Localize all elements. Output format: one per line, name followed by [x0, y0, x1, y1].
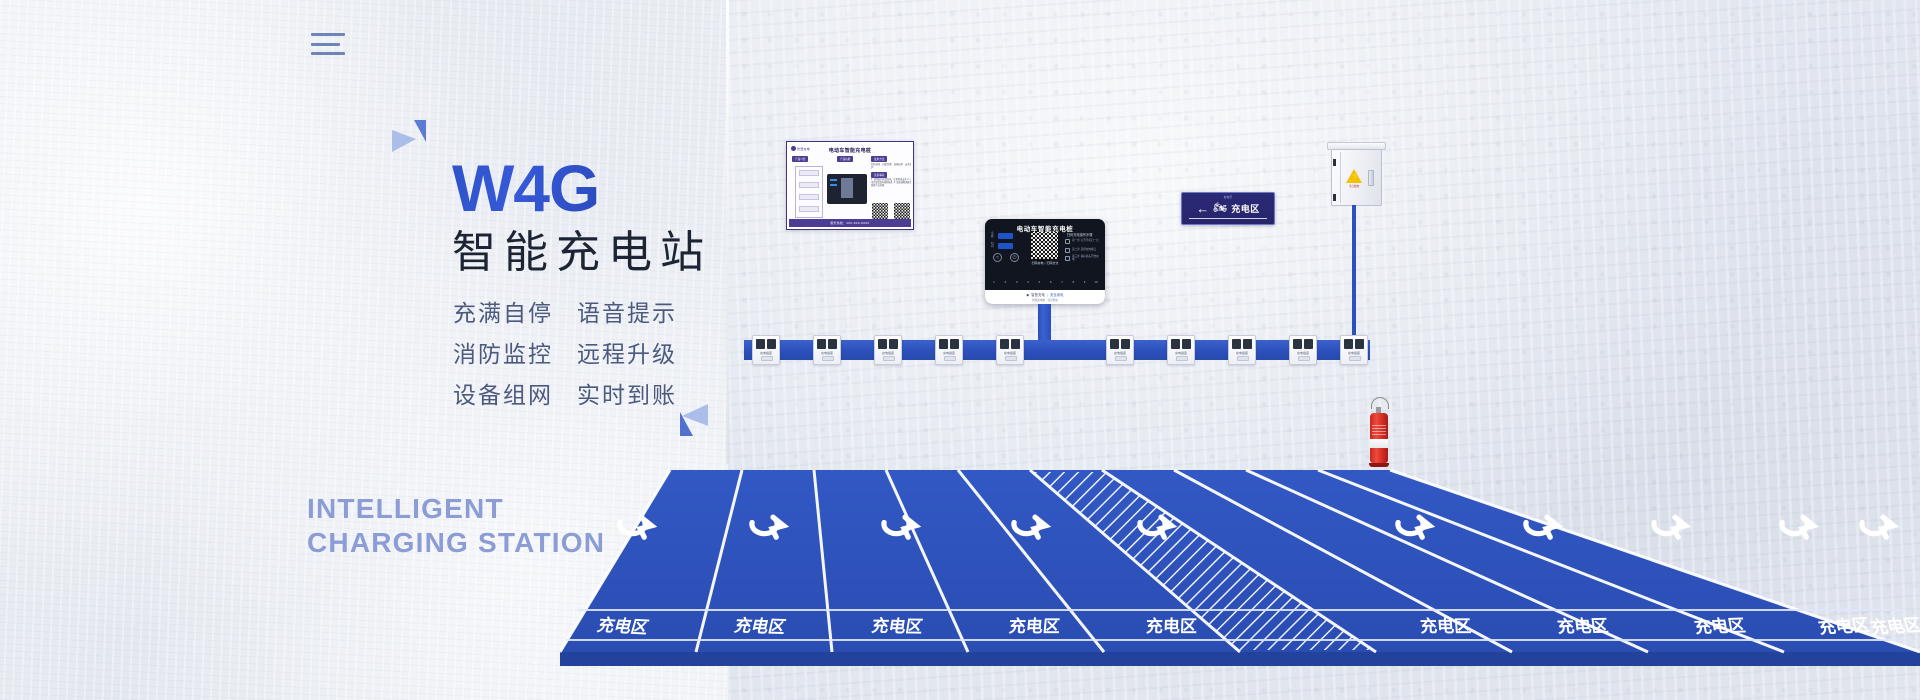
wall-socket[interactable]: 充电插座	[874, 335, 902, 365]
step-text: 第二步 选择充电端口	[1072, 249, 1096, 252]
wall-socket[interactable]: 充电插座	[935, 335, 963, 365]
page-title: W4G	[452, 155, 599, 221]
pile-steps-list: 第一步 打开手机扫一扫 第二步 选择充电端口 第三步 插好插头开始充电	[1065, 239, 1101, 265]
poster-chip: 产品介绍	[792, 156, 808, 162]
cabinet-hinge	[1333, 159, 1336, 166]
poster-device-image	[827, 174, 867, 204]
socket-holes	[817, 339, 837, 349]
pile-display-panel: 余额 时间	[991, 233, 1013, 253]
hamburger-menu-icon[interactable]	[311, 33, 345, 55]
poster-chip: 使用方法	[871, 156, 887, 162]
poster-flow-diagram	[795, 166, 823, 218]
pile-qr-code[interactable]	[1031, 232, 1058, 259]
sign-content: ← 🏍 充电区	[1182, 202, 1274, 215]
bay-label: 充电区	[1692, 611, 1747, 638]
high-voltage-warning-icon: 当心触电	[1344, 169, 1364, 188]
banner-stage: W4G 智能充电站 充满自停 语音提示 消防监控 远程升级 设备组网 实时到账 …	[0, 0, 1920, 700]
step-icon	[1065, 248, 1070, 253]
wall-socket[interactable]: 充电插座	[996, 335, 1024, 365]
warning-text: 当心触电	[1344, 184, 1364, 188]
feature-item: 充满自停	[453, 294, 553, 328]
wifi-icon: ≈	[993, 253, 1002, 262]
device-led	[830, 179, 837, 181]
warning-triangle	[1346, 169, 1362, 183]
pile-display-value	[998, 233, 1014, 239]
sign-top-label: 充电区	[1182, 195, 1274, 199]
step-text: 第三步 插好插头开始充电	[1072, 256, 1101, 262]
socket-holes	[1344, 339, 1364, 349]
sign-underline	[1189, 218, 1267, 220]
triangle-shape-b	[680, 412, 693, 436]
parking-floor-area: 充电区 充电区 充电区 充电区 充电区 充电区 充电区 充电区 充电区 充电区	[560, 452, 1920, 700]
socket-switch[interactable]	[761, 356, 773, 361]
wall-socket[interactable]: 充电插座	[1106, 335, 1134, 365]
socket-switch[interactable]	[1349, 356, 1361, 361]
wall-socket[interactable]: 充电插座	[1340, 335, 1368, 365]
wall-poster: 智慧充电 电动车智能充电桩 产品介绍 产品功能 使用方法 注意事项 扫码充电 ·…	[786, 141, 914, 230]
feature-item: 语音提示	[577, 294, 677, 328]
bay-label: 充电区	[1419, 612, 1472, 637]
pile-steps-header: 扫码充电操作步骤	[1067, 232, 1093, 237]
pile-port[interactable]: 3	[1014, 270, 1020, 288]
wall-seam-divider	[726, 0, 729, 464]
pile-port[interactable]: 7	[1059, 270, 1065, 288]
socket-switch[interactable]	[1115, 356, 1127, 361]
pile-port[interactable]: 1	[991, 270, 997, 288]
poster-qr-code-wechat	[871, 202, 889, 220]
pile-display-label: 余额	[991, 233, 996, 239]
cabinet-hinge	[1333, 194, 1336, 201]
cabinet-power-cable	[1352, 205, 1356, 348]
pile-display-value	[998, 243, 1014, 249]
poster-chip: 产品功能	[837, 156, 853, 162]
extinguisher-band	[1370, 439, 1388, 448]
electrical-cabinet[interactable]: 当心触电	[1329, 142, 1384, 207]
pile-display-row: 时间	[991, 243, 1013, 249]
pile-port-indicators[interactable]: 1 2 3 4 5 6 7 8 9 10	[991, 270, 1099, 288]
cabinet-body: 当心触电	[1331, 149, 1382, 206]
pile-step-row: 第一步 打开手机扫一扫	[1065, 239, 1101, 244]
flow-step	[799, 182, 819, 188]
bay-label: 充电区	[1556, 612, 1610, 638]
step-text: 第一步 打开手机扫一扫	[1072, 240, 1099, 243]
left-arrow-icon: ←	[1196, 202, 1209, 215]
bay-label: 充电区	[1146, 612, 1198, 637]
poster-qr-code-alipay	[893, 202, 911, 220]
socket-switch[interactable]	[1298, 356, 1310, 361]
poster-title: 电动车智能充电桩	[789, 147, 911, 154]
pile-footer-brands: ◉ 智慧充电 | 安全用电	[1026, 292, 1063, 297]
feature-item: 远程升级	[577, 335, 677, 369]
pile-port[interactable]: 6	[1048, 270, 1054, 288]
socket-holes	[1171, 339, 1191, 349]
step-icon	[1065, 256, 1070, 261]
triangle-shape-a	[392, 130, 416, 152]
page-subtitle: 智能充电站	[452, 216, 712, 280]
socket-holes	[1000, 339, 1020, 349]
poster-inner: 智慧充电 电动车智能充电桩 产品介绍 产品功能 使用方法 注意事项 扫码充电 ·…	[789, 144, 911, 227]
device-led	[830, 184, 837, 186]
wall-socket[interactable]: 充电插座	[1167, 335, 1195, 365]
pile-port[interactable]: 8	[1070, 270, 1076, 288]
wall-socket[interactable]: 充电插座	[813, 335, 841, 365]
sign-text: 充电区	[1231, 202, 1260, 215]
bay-label: 充电区	[1815, 611, 1871, 639]
feature-item: 消防监控	[453, 335, 553, 369]
pile-port[interactable]: 2	[1002, 270, 1008, 288]
pile-port[interactable]: 4	[1025, 270, 1031, 288]
bay-label: 充电区	[870, 612, 925, 638]
e-bike-icon: 🏍	[1213, 203, 1227, 214]
menu-bar-3	[311, 52, 345, 55]
poster-right-text-2: 1. 请勿私拉电线充电，注意用电安全 2. 充电完成请及时拔除插头 3. 发现故…	[871, 179, 911, 187]
pile-display-row: 余额	[991, 233, 1013, 239]
feature-item: 设备组网	[453, 376, 553, 410]
pile-port[interactable]: 10	[1093, 270, 1099, 288]
pile-footer: ◉ 智慧充电 | 安全用电 智能充电桩 · 扫码即充	[985, 290, 1105, 304]
pile-icon-group: ≈ ⏻	[993, 253, 1019, 262]
socket-switch[interactable]	[944, 356, 956, 361]
socket-switch[interactable]	[1005, 356, 1017, 361]
flow-step	[799, 170, 819, 176]
flow-step	[799, 194, 819, 200]
socket-holes	[878, 339, 898, 349]
charging-pile-device[interactable]: 电动车智能充电桩 余额 时间 扫码充电 / 扫码支付 扫码充电操作步骤 第一步 …	[985, 219, 1105, 304]
pile-qr-caption: 扫码充电 / 扫码支付	[1029, 261, 1061, 265]
pile-support-pole	[1038, 304, 1051, 344]
menu-bar-1	[311, 33, 345, 36]
feature-item: 实时到账	[577, 376, 677, 410]
socket-switch[interactable]	[1176, 356, 1188, 361]
flow-step	[799, 206, 819, 212]
wall-socket[interactable]: 充电插座	[752, 335, 780, 365]
footer-logo-icon: ◉	[1026, 293, 1029, 297]
bay-label: 充电区	[595, 611, 652, 639]
decorative-triangle-bottom	[678, 400, 718, 446]
wall-socket[interactable]: 充电插座	[1289, 335, 1317, 365]
cabinet-handle[interactable]	[1368, 170, 1374, 186]
poster-footer: 服务热线：400-000-0000	[789, 219, 911, 227]
socket-holes	[1293, 339, 1313, 349]
socket-switch[interactable]	[1237, 356, 1249, 361]
socket-switch[interactable]	[822, 356, 834, 361]
triangle-shape-b	[414, 120, 426, 142]
extinguisher-label	[1372, 423, 1386, 435]
socket-switch[interactable]	[883, 356, 895, 361]
pile-step-row: 第二步 选择充电端口	[1065, 248, 1101, 253]
socket-holes	[1232, 339, 1252, 349]
device-screen	[841, 178, 853, 198]
poster-right-text: 扫码充电 · 自助付费 · 充满自停 · 安全防护	[871, 164, 911, 169]
step-icon	[1065, 239, 1070, 244]
pile-port[interactable]: 9	[1082, 270, 1088, 288]
bay-label: 充电区	[1008, 612, 1061, 637]
bay-label: 充电区	[1867, 611, 1920, 639]
feature-list: 充满自停 语音提示 消防监控 远程升级 设备组网 实时到账	[453, 294, 677, 410]
socket-holes	[1110, 339, 1130, 349]
direction-sign: 充电区 ← 🏍 充电区	[1181, 192, 1275, 225]
decorative-triangle-top	[392, 120, 428, 160]
power-icon: ⏻	[1010, 253, 1019, 262]
pile-port[interactable]: 5	[1036, 270, 1042, 288]
bay-labels: 充电区 充电区 充电区 充电区 充电区 充电区 充电区 充电区 充电区 充电区	[560, 452, 1920, 700]
pile-step-row: 第三步 插好插头开始充电	[1065, 256, 1101, 262]
pile-footer-note: 智能充电桩 · 扫码即充	[1032, 298, 1058, 302]
socket-holes	[939, 339, 959, 349]
socket-holes	[756, 339, 776, 349]
wall-socket[interactable]: 充电插座	[1228, 335, 1256, 365]
pile-display-label: 时间	[991, 243, 996, 249]
bay-label: 充电区	[732, 611, 788, 638]
menu-bar-2	[311, 43, 340, 46]
